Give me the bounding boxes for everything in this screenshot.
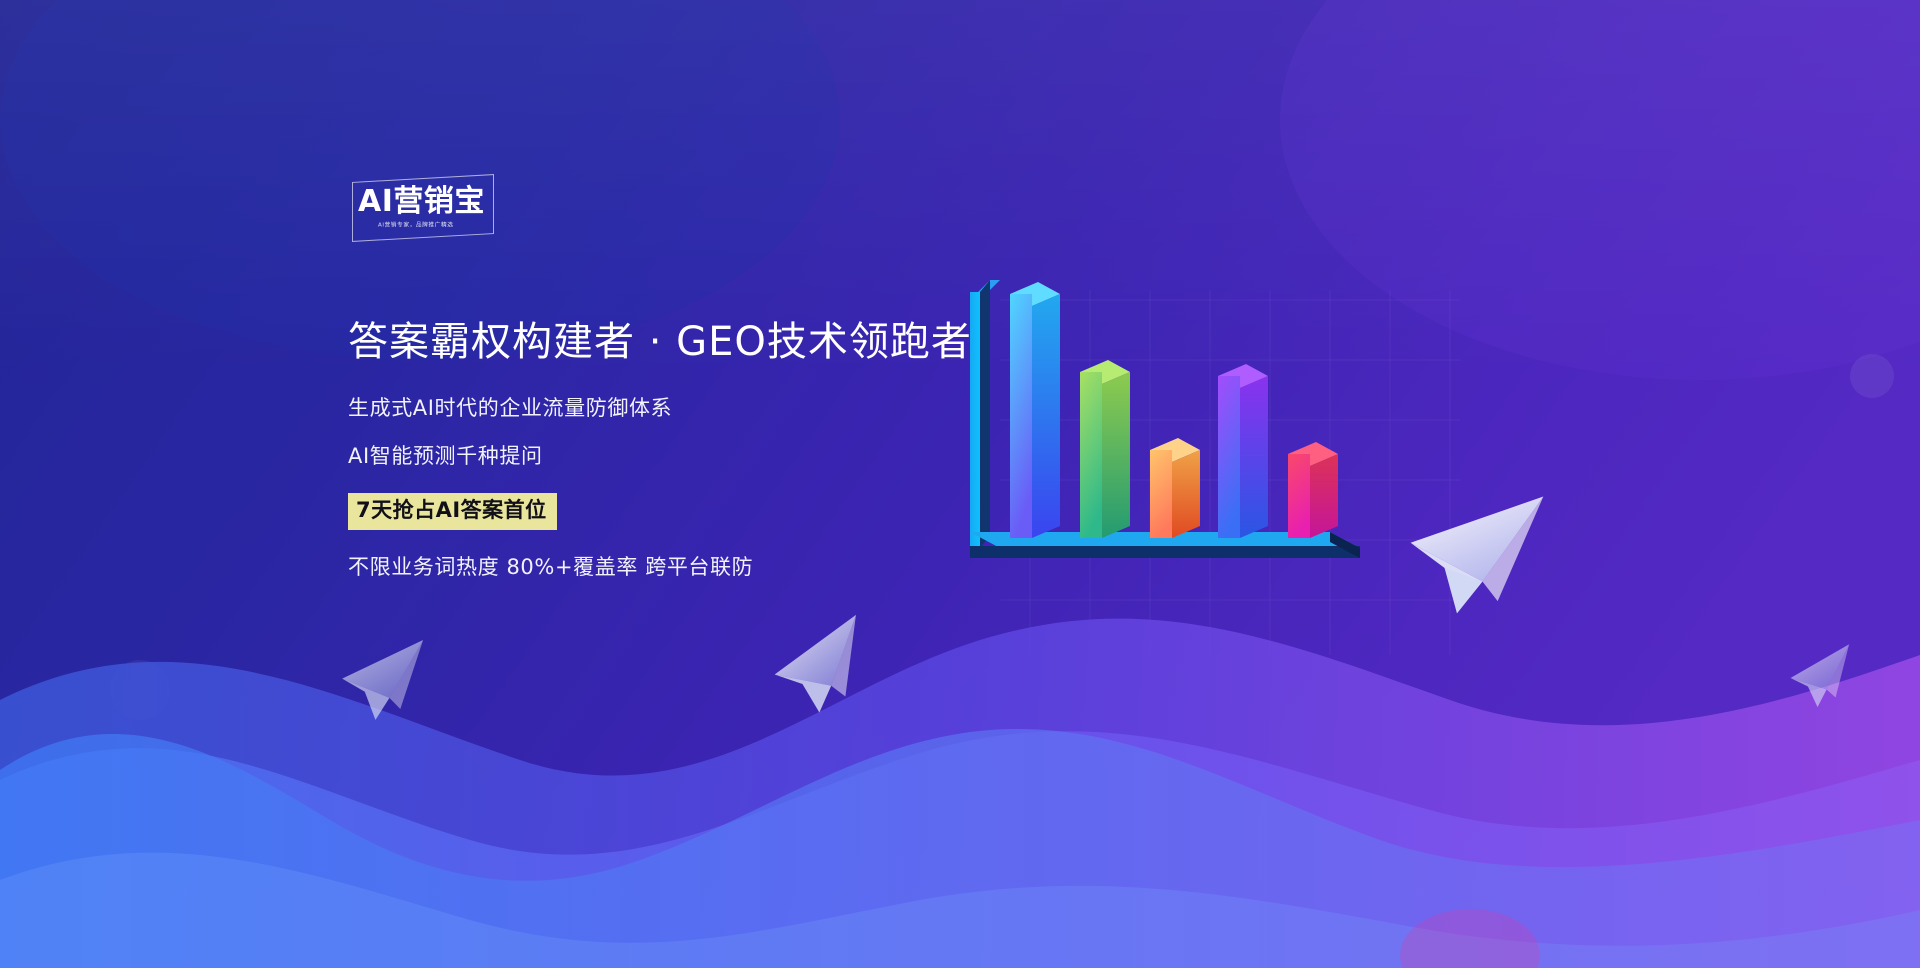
chart-bar-4 — [1218, 364, 1268, 538]
bar-chart-svg — [960, 280, 1460, 680]
status-badge: 7天抢占AI答案首位 — [348, 493, 557, 530]
paper-plane-far-right-icon — [1786, 644, 1862, 711]
chart-bar-2 — [1080, 360, 1130, 538]
bar-chart-illustration — [960, 280, 1460, 680]
hero-badge-wrap: 7天抢占AI答案首位 — [348, 493, 1048, 530]
hero-subtitle-3: 不限业务词热度 80%+覆盖率 跨平台联防 — [348, 557, 1048, 578]
chart-bar-5 — [1288, 442, 1338, 538]
chart-y-axis — [970, 280, 1000, 548]
hero-subtitle-2: AI智能预测千种提问 — [348, 446, 1048, 467]
paper-plane-left-icon — [338, 640, 435, 724]
logo-wordmark: AI营销宝 — [358, 187, 498, 217]
hero-subtitle-1: 生成式AI时代的企业流量防御体系 — [348, 398, 1048, 419]
chart-bar-1 — [1010, 282, 1060, 538]
paper-plane-center-icon — [765, 615, 883, 723]
chart-bar-3 — [1150, 438, 1200, 538]
hero-copy: 答案霸权构建者 · GEO技术领跑者 生成式AI时代的企业流量防御体系 AI智能… — [348, 318, 1048, 578]
hero-banner: AI营销宝 AI营销专家，品牌推广精选 答案霸权构建者 · GEO技术领跑者 生… — [0, 0, 1920, 968]
logo-tagline: AI营销专家，品牌推广精选 — [378, 220, 492, 229]
page-title: 答案霸权构建者 · GEO技术领跑者 — [348, 318, 1048, 368]
brand-logo[interactable]: AI营销宝 AI营销专家，品牌推广精选 — [352, 178, 502, 240]
